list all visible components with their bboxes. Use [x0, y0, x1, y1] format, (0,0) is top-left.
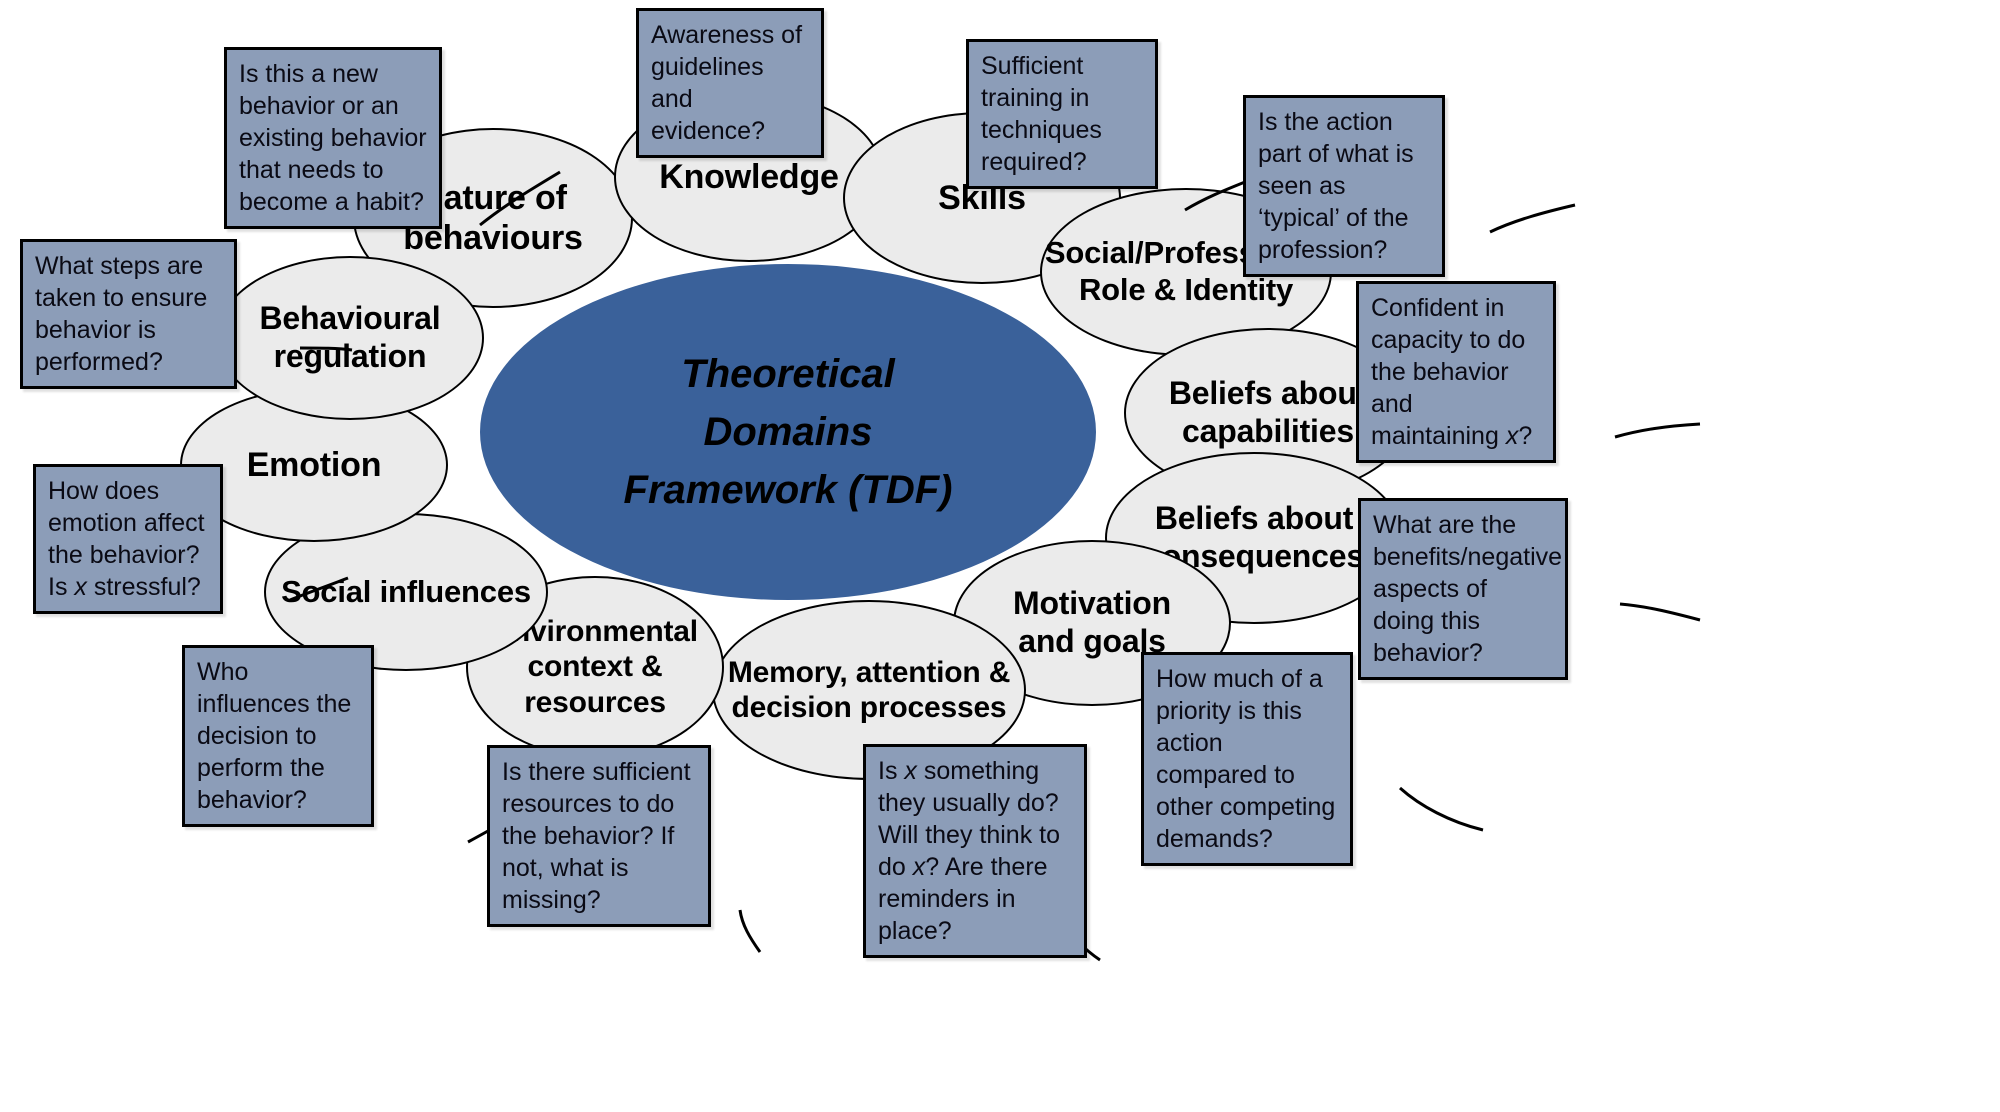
question-box-social-professional-role-identity[interactable]: Is the action part of what is seen as ‘t…	[1243, 95, 1445, 277]
question-box-nature-of-behaviours[interactable]: Is this a new behavior or an existing be…	[224, 47, 442, 229]
domain-label-social-influences: Social influences	[275, 574, 537, 611]
center-line-3: Framework (TDF)	[624, 461, 953, 519]
domain-ellipse-behavioural-regulation[interactable]: Behavioural regulation	[216, 256, 484, 420]
question-box-beliefs-about-consequences[interactable]: What are the benefits/negative aspects o…	[1358, 498, 1568, 680]
leader-beliefs-capabilities	[1615, 424, 1700, 437]
question-box-knowledge[interactable]: Awareness of guidelines and evidence?	[636, 8, 824, 158]
question-text-motivation-and-goals: How much of a priority is this action co…	[1156, 665, 1335, 853]
tdf-diagram: Nature of behaviours Knowledge Skills So…	[0, 0, 2000, 1112]
question-box-beliefs-about-capabilities[interactable]: Confident in capacity to do the behavior…	[1356, 281, 1556, 463]
question-box-motivation-and-goals[interactable]: How much of a priority is this action co…	[1141, 652, 1353, 866]
question-box-memory-attention-decision-processes[interactable]: Is x something they usually do? Will the…	[863, 744, 1087, 958]
question-box-environmental-context-resources[interactable]: Is there sufficient resources to do the …	[487, 745, 711, 927]
question-text-beliefs-about-consequences: What are the benefits/negative aspects o…	[1373, 511, 1562, 667]
question-text-skills: Sufficient training in techniques requir…	[981, 52, 1102, 176]
domain-label-emotion: Emotion	[241, 445, 388, 485]
domain-label-behavioural-regulation: Behavioural regulation	[254, 300, 447, 376]
domain-label-memory-attention-decision-processes: Memory, attention & decision processes	[722, 655, 1016, 726]
domain-label-beliefs-about-capabilities: Beliefs about capabilities	[1163, 375, 1373, 451]
question-text-memory-attention-decision-processes: Is x something they usually do? Will the…	[878, 757, 1060, 945]
domain-label-knowledge: Knowledge	[653, 157, 845, 197]
domain-label-motivation-and-goals: Motivation and goals	[1007, 585, 1177, 661]
center-label: Theoretical Domains Framework (TDF)	[624, 345, 953, 519]
question-text-knowledge: Awareness of guidelines and evidence?	[651, 21, 802, 145]
center-line-2: Domains	[624, 403, 953, 461]
question-box-social-influences[interactable]: Who influences the decision to perform t…	[182, 645, 374, 827]
question-text-environmental-context-resources: Is there sufficient resources to do the …	[502, 758, 691, 914]
center-ellipse-tdf[interactable]: Theoretical Domains Framework (TDF)	[478, 262, 1098, 602]
question-box-skills[interactable]: Sufficient training in techniques requir…	[966, 39, 1158, 189]
question-text-beliefs-about-capabilities: Confident in capacity to do the behavior…	[1371, 294, 1532, 450]
question-box-behavioural-regulation[interactable]: What steps are taken to ensure behavior …	[20, 239, 237, 389]
question-box-emotion[interactable]: How does emotion affect the behavior? Is…	[33, 464, 223, 614]
question-text-behavioural-regulation: What steps are taken to ensure behavior …	[35, 252, 207, 376]
leader-environmental	[740, 910, 760, 952]
question-text-nature-of-behaviours: Is this a new behavior or an existing be…	[239, 60, 427, 216]
leader-beliefs-consequences	[1620, 604, 1700, 620]
question-text-social-influences: Who influences the decision to perform t…	[197, 658, 351, 814]
question-text-emotion: How does emotion affect the behavior? Is…	[48, 477, 205, 601]
leader-social-professional	[1490, 205, 1575, 232]
center-line-1: Theoretical	[624, 345, 953, 403]
question-text-social-professional-role-identity: Is the action part of what is seen as ‘t…	[1258, 108, 1414, 264]
leader-motivation	[1400, 788, 1483, 830]
